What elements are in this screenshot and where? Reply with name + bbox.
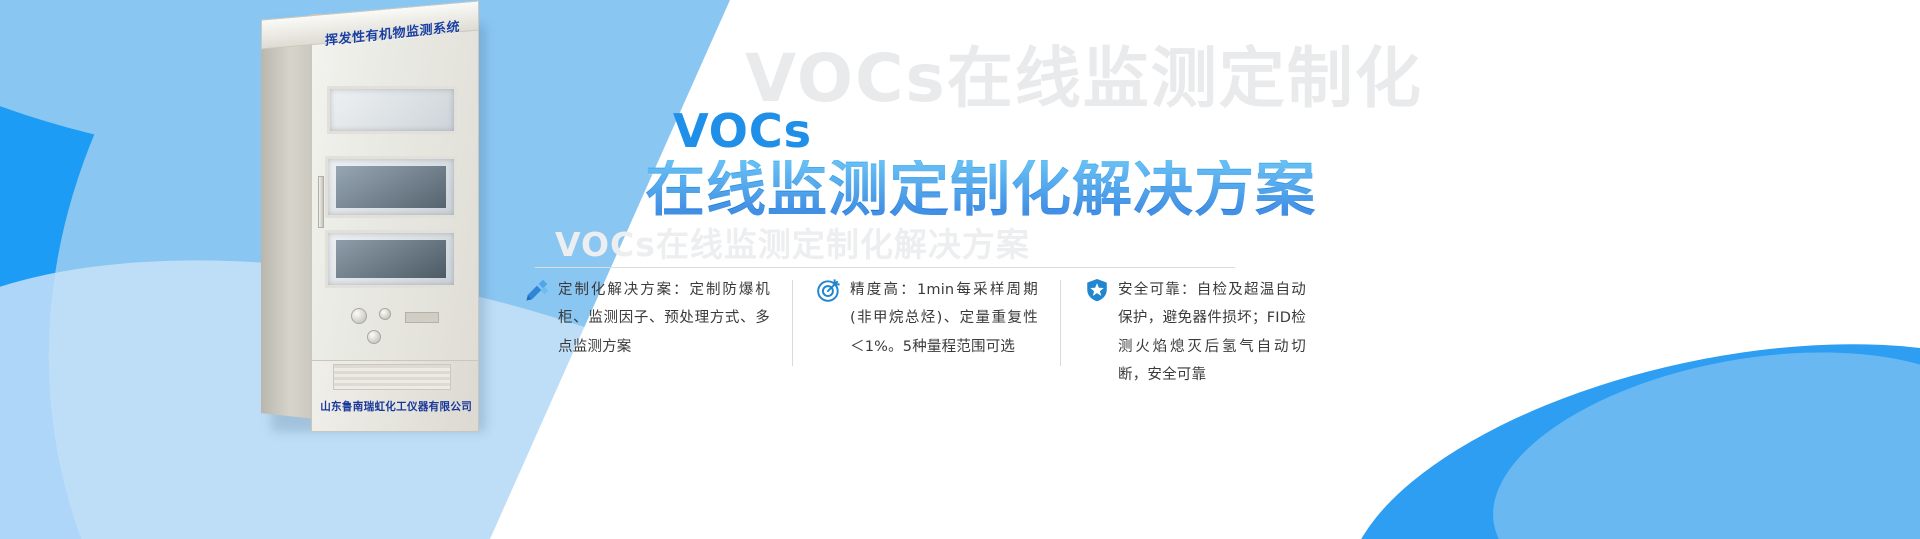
cabinet-screen-lower [336,240,446,278]
equipment-photo: 挥发性有机物监测系统 山东鲁南瑞虹化工仪器有限公司 [255,8,505,433]
pencil-ruler-icon [524,277,550,303]
cabinet-window-upper [327,86,457,134]
shield-star-icon [1084,277,1110,303]
feature-item-custom-solution: 定制化解决方案：定制防爆机柜、监测因子、预处理方式、多点监测方案 [524,276,792,361]
feature-list: 定制化解决方案：定制防爆机柜、监测因子、预处理方式、多点监测方案 精度高：1mi… [524,276,1328,389]
promo-banner: 挥发性有机物监测系统 山东鲁南瑞虹化工仪器有限公司 VOCs在线监测定制化 VO… [0,0,1920,539]
section-divider [535,267,1235,268]
cabinet-knob-3 [367,330,381,344]
headline-english: VOCs [673,108,1316,154]
headline-chinese: 在线监测定制化解决方案 [645,160,1316,220]
cabinet-door-handle [318,176,324,228]
watermark-heading: VOCs在线监测定制化 [745,46,1423,112]
cabinet-knob-2 [379,308,391,320]
target-accuracy-icon [816,277,842,303]
cabinet-company-label: 山东鲁南瑞虹化工仪器有限公司 [320,398,474,413]
feature-text: 安全可靠：自检及超温自动保护，避免器件损坏；FID检测火焰熄灭后氢气自动切断，安… [1118,276,1306,389]
feature-text: 定制化解决方案：定制防爆机柜、监测因子、预处理方式、多点监测方案 [558,276,770,361]
cabinet-display-lower [325,230,457,288]
cabinet-nameplate [405,312,439,323]
feature-text: 精度高：1min每采样周期(非甲烷总烃)、定量重复性＜1%。5种量程范围可选 [850,276,1038,361]
feature-item-safe-reliable: 安全可靠：自检及超温自动保护，避免器件损坏；FID检测火焰熄灭后氢气自动切断，安… [1060,276,1328,389]
cabinet-vent-grille [333,364,451,390]
feature-item-high-accuracy: 精度高：1min每采样周期(非甲烷总烃)、定量重复性＜1%。5种量程范围可选 [792,276,1060,361]
watermark-subheading: VOCs在线监测定制化解决方案 [555,218,1030,266]
cabinet-side-panel [261,31,315,419]
cabinet-knob-1 [351,308,367,324]
headline-block: VOCs 在线监测定制化解决方案 [665,108,1316,220]
cabinet-display-middle [325,156,457,218]
cabinet-screen-middle [336,166,446,208]
